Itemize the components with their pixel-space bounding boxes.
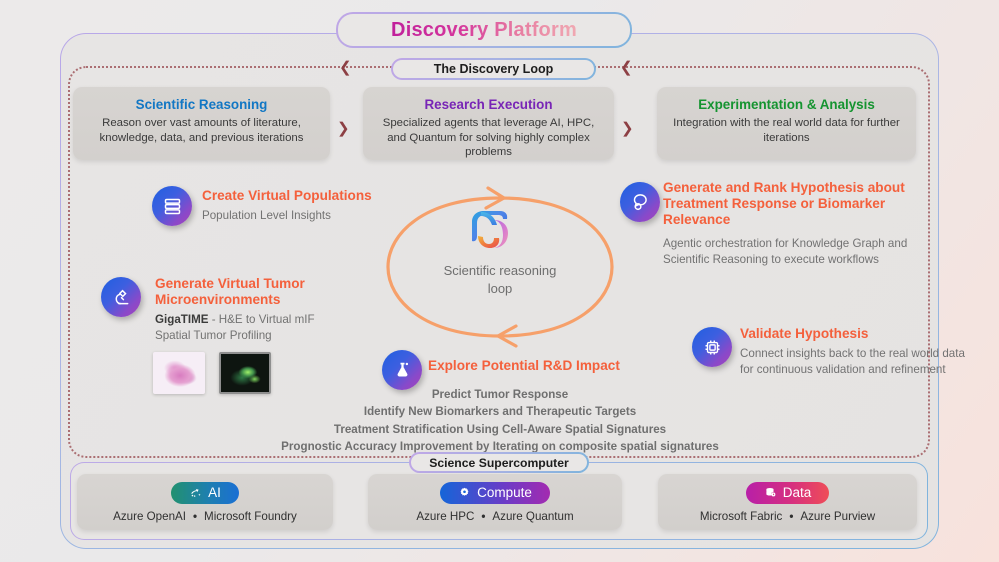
- supercomputer-card-data[interactable]: Data Microsoft Fabric•Azure Purview: [658, 474, 917, 530]
- compute-chip-badge[interactable]: Compute: [440, 482, 550, 504]
- database-stack-icon: [152, 186, 192, 226]
- rd-impact-line: Treatment Stratification Using Cell-Awar…: [240, 421, 760, 438]
- data-services: Microsoft Fabric•Azure Purview: [700, 510, 875, 523]
- rd-impact-bullet-list: Predict Tumor Response Identify New Biom…: [240, 386, 760, 456]
- loop-center-label: Scientific reasoning loop: [404, 262, 596, 297]
- ai-chip-label: AI: [208, 485, 221, 500]
- feature-title: Explore Potential R&D Impact: [428, 358, 638, 374]
- feature-desc-rest: - H&E to Virtual mIF: [208, 313, 314, 326]
- separator: •: [186, 510, 204, 523]
- science-supercomputer-label: Science Supercomputer: [429, 456, 569, 470]
- ai-sparkle-icon: [189, 486, 202, 499]
- diagram-canvas: ❮ ❮ ❯ ❯ Discovery Platform The Discovery…: [0, 0, 999, 562]
- discovery-loop-pill: The Discovery Loop: [391, 58, 596, 80]
- ai-chip-badge[interactable]: AI: [171, 482, 239, 504]
- page-title: Discovery Platform: [391, 19, 577, 42]
- rd-impact-line: Identify New Biomarkers and Therapeutic …: [240, 403, 760, 420]
- separator: •: [782, 510, 800, 523]
- service-name: Azure Purview: [800, 510, 875, 523]
- feature-description: GigaTIME - H&E to Virtual mIFSpatial Tum…: [155, 312, 370, 343]
- chip-icon: [692, 327, 732, 367]
- service-name: Azure OpenAI: [113, 510, 186, 523]
- supercomputer-card-ai[interactable]: AI Azure OpenAI•Microsoft Foundry: [77, 474, 333, 530]
- loop-arrow-mid-left-icon: ❯: [337, 121, 350, 136]
- feature-desc-line2: Spatial Tumor Profiling: [155, 329, 272, 342]
- stage-card-description: Reason over vast amounts of literature, …: [85, 116, 318, 145]
- feature-description: Agentic orchestration for Knowledge Grap…: [663, 236, 928, 267]
- feature-title: Generate Virtual Tumor Microenvironments: [155, 276, 370, 308]
- loop-arrow-right-icon: ❮: [620, 60, 633, 75]
- stage-card-scientific-reasoning: Scientific Reasoning Reason over vast am…: [73, 87, 330, 160]
- stage-card-description: Specialized agents that leverage AI, HPC…: [375, 116, 602, 160]
- feature-desc-bold: GigaTIME: [155, 313, 208, 326]
- feature-title: Create Virtual Populations: [202, 188, 442, 204]
- flask-icon: [382, 350, 422, 390]
- copilot-logo-icon: [466, 206, 522, 252]
- service-name: Microsoft Fabric: [700, 510, 782, 523]
- loop-center-label-line1: Scientific reasoning: [444, 263, 557, 278]
- microscope-icon: [101, 277, 141, 317]
- database-icon: [764, 486, 777, 499]
- hypothesis-bubbles-icon: [620, 182, 660, 222]
- stage-card-research-execution: Research Execution Specialized agents th…: [363, 87, 614, 160]
- stage-card-title: Research Execution: [375, 97, 602, 112]
- data-chip-label: Data: [783, 485, 812, 500]
- feature-description: Population Level Insights: [202, 208, 442, 224]
- data-chip-badge[interactable]: Data: [746, 482, 830, 504]
- platform-title-pill: Discovery Platform: [336, 12, 632, 48]
- compute-services: Azure HPC•Azure Quantum: [416, 510, 573, 523]
- loop-center-label-line2: loop: [488, 281, 513, 296]
- loop-arrow-mid-right-icon: ❯: [621, 121, 634, 136]
- supercomputer-card-compute[interactable]: Compute Azure HPC•Azure Quantum: [368, 474, 622, 530]
- feature-title: Validate Hypothesis: [740, 326, 965, 342]
- stage-card-title: Experimentation & Analysis: [669, 97, 904, 112]
- h-and-e-slide-thumbnail: [153, 352, 205, 394]
- separator: •: [474, 510, 492, 523]
- discovery-loop-label: The Discovery Loop: [434, 62, 553, 76]
- feature-description: Connect insights back to the real world …: [740, 346, 965, 377]
- service-name: Microsoft Foundry: [204, 510, 297, 523]
- rd-impact-line: Predict Tumor Response: [240, 386, 760, 403]
- service-name: Azure Quantum: [492, 510, 573, 523]
- ai-services: Azure OpenAI•Microsoft Foundry: [113, 510, 297, 523]
- cpu-gear-icon: [458, 486, 471, 499]
- loop-arrow-left-icon: ❮: [339, 60, 352, 75]
- science-supercomputer-pill: Science Supercomputer: [409, 452, 589, 473]
- stage-card-title: Scientific Reasoning: [85, 97, 318, 112]
- feature-title: Generate and Rank Hypothesis about Treat…: [663, 180, 928, 228]
- stage-card-experimentation-analysis: Experimentation & Analysis Integration w…: [657, 87, 916, 160]
- stage-card-description: Integration with the real world data for…: [669, 116, 904, 145]
- service-name: Azure HPC: [416, 510, 474, 523]
- compute-chip-label: Compute: [477, 485, 532, 500]
